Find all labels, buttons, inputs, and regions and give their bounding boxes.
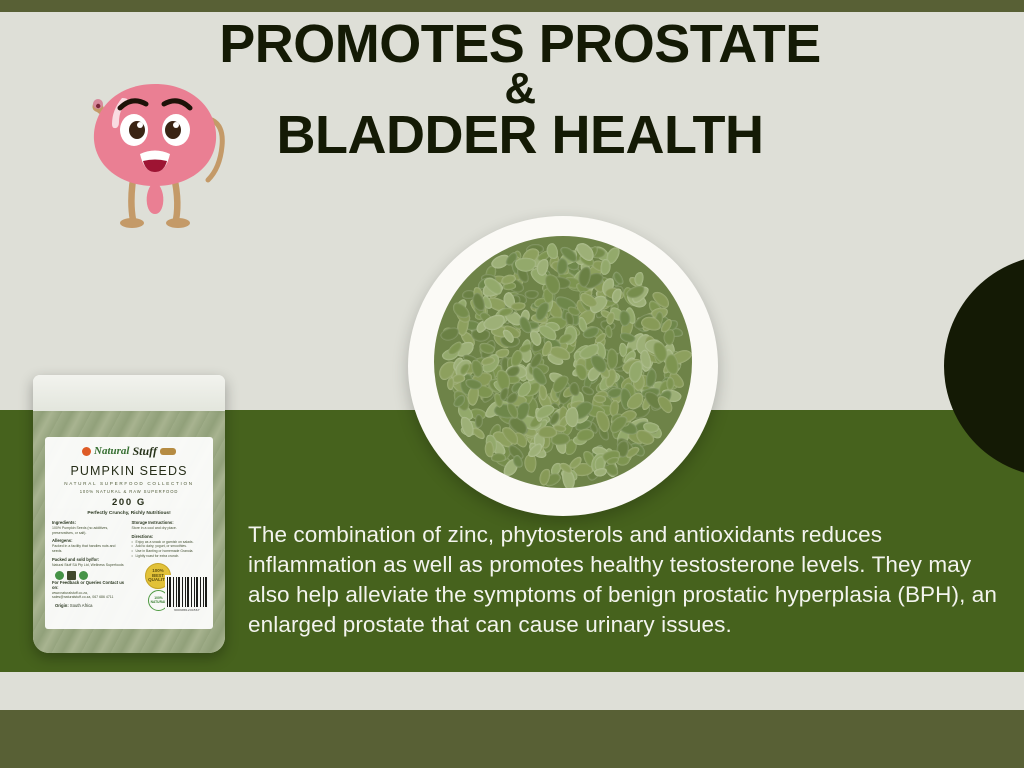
contact-heading: For Feedback or Queries Contact us on: bbox=[52, 580, 127, 590]
contact-icons bbox=[52, 571, 127, 580]
bowl-interior-seeds bbox=[434, 236, 692, 488]
allergens-heading: Allergens: bbox=[52, 538, 127, 543]
whatsapp-icon bbox=[55, 571, 64, 580]
origin-value: South Africa bbox=[70, 603, 93, 608]
product-weight: 200 G bbox=[49, 497, 209, 508]
lower-beige-bar bbox=[0, 672, 1024, 710]
storage-body: Store in a cool and dry place. bbox=[132, 526, 207, 531]
globe-icon bbox=[79, 571, 88, 580]
allergens-body: Packed in a facility that handles nuts a… bbox=[52, 544, 127, 553]
pouch-front-label: Natural Stuff PUMPKIN SEEDS NATURAL SUPE… bbox=[45, 437, 213, 629]
email-icon bbox=[67, 571, 76, 580]
product-subtitle: NATURAL SUPERFOOD COLLECTION bbox=[49, 481, 209, 486]
prostate-bladder-mascot-icon bbox=[60, 68, 240, 233]
headline-line-3: BLADDER HEALTH bbox=[140, 109, 900, 161]
pumpkin-seed bbox=[634, 271, 645, 287]
ingredients-body: 100% Pumpkin Seeds (no additives, preser… bbox=[52, 526, 127, 535]
pumpkin-seed bbox=[568, 380, 580, 396]
barcode: 6009881234567 bbox=[165, 575, 209, 615]
pumpkin-seed bbox=[566, 408, 579, 428]
label-left-column: Ingredients: 100% Pumpkin Seeds (no addi… bbox=[52, 520, 127, 608]
ingredients-heading: Ingredients: bbox=[52, 520, 127, 525]
storage-heading: Storage Instructions: bbox=[132, 520, 207, 525]
brand-name-word1: Natural bbox=[94, 445, 129, 457]
poster-canvas: PROMOTES PROSTATE & BLADDER HEALTH bbox=[0, 0, 1024, 768]
barcode-bars bbox=[167, 577, 207, 607]
packed-by-heading: Packed and sold by/for: bbox=[52, 557, 127, 562]
tomato-icon bbox=[82, 447, 91, 456]
product-subtitle-2: 100% NATURAL & RAW SUPERFOOD bbox=[49, 489, 209, 494]
directions-heading: Directions: bbox=[132, 534, 207, 539]
pouch-zip-top bbox=[33, 375, 225, 413]
pumpkin-seed bbox=[484, 441, 494, 458]
product-tagline: Perfectly Crunchy, Richly Nutritious! bbox=[49, 511, 209, 516]
bowl-of-pumpkin-seeds-icon bbox=[408, 216, 718, 516]
packed-by-body: Natural Stuff SA Pty Ltd, Wellness Super… bbox=[52, 563, 127, 568]
bowl-rim bbox=[408, 216, 718, 516]
pumpkin-seed bbox=[475, 414, 484, 428]
body-paragraph: The combination of zinc, phytosterols an… bbox=[248, 520, 1010, 641]
headline: PROMOTES PROSTATE & BLADDER HEALTH bbox=[140, 18, 900, 161]
direction-item: Lightly roast for extra crunch. bbox=[132, 554, 207, 559]
brand-row: Natural Stuff bbox=[49, 440, 209, 462]
seed-scoop-icon bbox=[160, 448, 176, 455]
headline-line-1: PROMOTES PROSTATE bbox=[140, 18, 900, 70]
contact-body: www.naturalstuff.co.za, sales@naturalstu… bbox=[52, 591, 127, 600]
bottom-olive-bar bbox=[0, 710, 1024, 768]
origin-row: Origin: South Africa bbox=[52, 603, 127, 608]
pumpkin-seed bbox=[438, 325, 460, 343]
pumpkin-seed bbox=[600, 259, 611, 276]
origin-label: Origin: bbox=[55, 603, 69, 608]
brand-name-word2: Stuff bbox=[133, 444, 157, 459]
barcode-number: 6009881234567 bbox=[167, 608, 207, 612]
product-title: PUMPKIN SEEDS bbox=[49, 464, 209, 478]
pumpkin-seed bbox=[606, 349, 618, 370]
top-olive-bar bbox=[0, 0, 1024, 12]
pumpkin-seeds-product-pouch: Natural Stuff PUMPKIN SEEDS NATURAL SUPE… bbox=[33, 375, 225, 653]
